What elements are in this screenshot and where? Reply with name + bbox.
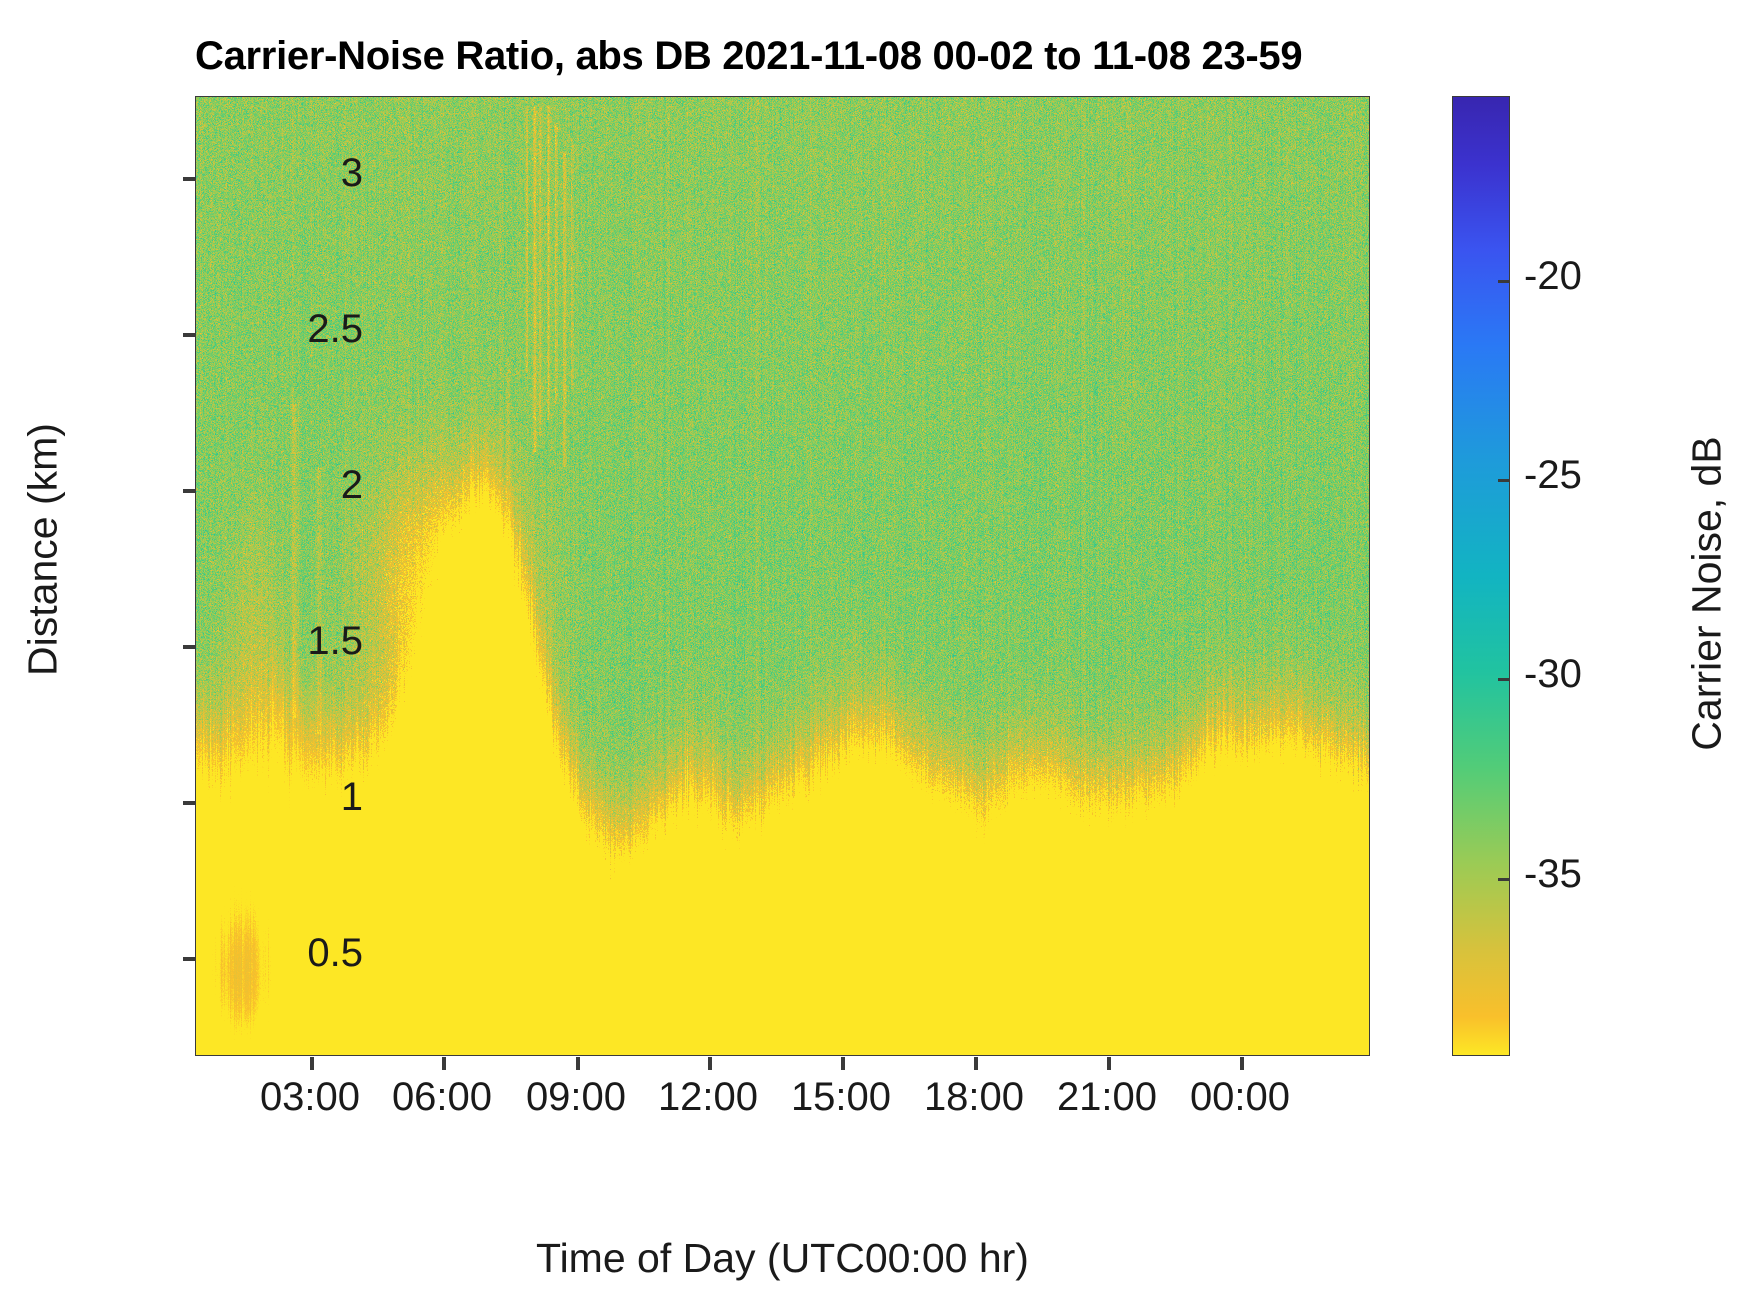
x-axis-tick-mark [974,1057,978,1070]
colorbar-gradient [1453,97,1509,1055]
colorbar-tick-label: -25 [1524,453,1664,498]
y-axis-tick-mark [183,801,196,805]
colorbar-tick-mark [1498,878,1510,881]
colorbar-tick-mark [1498,280,1510,283]
y-axis-tick-label: 2 [243,463,363,508]
x-axis-tick-mark [442,1057,446,1070]
y-axis-tick-label: 2.5 [243,307,363,352]
x-axis-title: Time of Day (UTC00:00 hr) [195,1235,1370,1282]
y-axis-tick-label: 3 [243,151,363,196]
y-axis-tick-label: 1 [243,775,363,820]
colorbar-tick-label: -30 [1524,652,1664,697]
colorbar-tick-mark [1498,479,1510,482]
x-axis-tick-mark [708,1057,712,1070]
y-axis-tick-label: 1.5 [243,619,363,664]
page-title: Carrier-Noise Ratio, abs DB 2021-11-08 0… [195,34,1255,79]
x-axis-tick-label: 00:00 [1155,1075,1325,1120]
colorbar [1452,96,1510,1056]
heatmap-image [196,97,1370,1056]
colorbar-tick-mark [1498,678,1510,681]
y-axis-tick-mark [183,333,196,337]
y-axis-tick-label: 0.5 [243,931,363,976]
y-axis-tick-mark [183,957,196,961]
x-axis-tick-mark [576,1057,580,1070]
x-axis-tick-mark [841,1057,845,1070]
colorbar-tick-label: -35 [1524,852,1664,897]
colorbar-title: Carrier Noise, dB [1684,364,1731,824]
x-axis-tick-mark [1107,1057,1111,1070]
y-axis-tick-mark [183,177,196,181]
figure-canvas: Carrier-Noise Ratio, abs DB 2021-11-08 0… [0,0,1750,1313]
heatmap-axes [195,96,1370,1056]
y-axis-tick-mark [183,489,196,493]
x-axis-tick-mark [1240,1057,1244,1070]
y-axis-title: Distance (km) [20,320,67,780]
y-axis-tick-mark [183,645,196,649]
colorbar-tick-label: -20 [1524,254,1664,299]
x-axis-tick-mark [310,1057,314,1070]
